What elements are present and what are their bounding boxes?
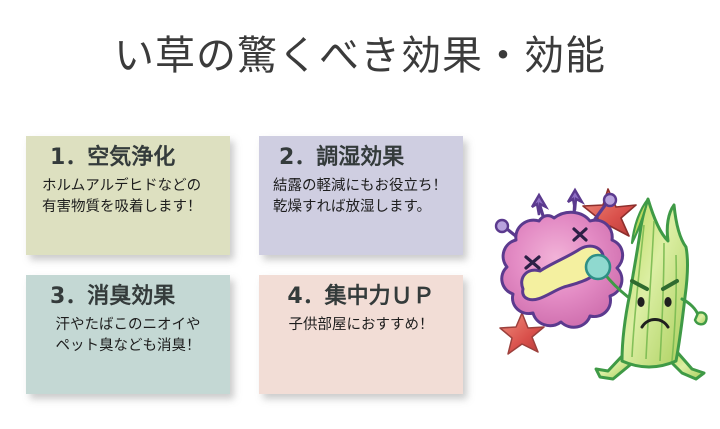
benefit-card-body: 汗やたばこのニオイや ペット臭なども消臭！ (36, 315, 220, 357)
benefit-card-body: 結露の軽減にもお役立ち！ 乾燥すれば放湿します。 (269, 176, 453, 218)
igusa-fist (586, 255, 610, 279)
benefit-card-heading: 1．空気浄化 (36, 145, 220, 171)
benefit-card-body: 子供部屋におすすめ！ (269, 315, 453, 336)
benefit-card-body: ホルムアルデヒドなどの 有害物質を吸着します！ (36, 176, 220, 218)
benefit-card-heading: 2．調湿効果 (269, 145, 453, 171)
benefit-cards-grid: 1．空気浄化 ホルムアルデヒドなどの 有害物質を吸着します！ 2．調湿効果 結露… (26, 136, 466, 381)
page-title: い草の驚くべき効果・効能 (0, 33, 720, 79)
benefit-card-air-purification: 1．空気浄化 ホルムアルデヒドなどの 有害物質を吸着します！ (26, 136, 230, 255)
infographic-page: い草の驚くべき効果・効能 1．空気浄化 ホルムアルデヒドなどの 有害物質を吸着し… (0, 0, 720, 429)
benefit-card-heading: 4．集中力ＵＰ (269, 284, 453, 310)
benefit-card-concentration-up: 4．集中力ＵＰ 子供部屋におすすめ！ (259, 275, 463, 394)
benefit-card-humidity-control: 2．調湿効果 結露の軽減にもお役立ち！ 乾燥すれば放湿します。 (259, 136, 463, 255)
benefit-card-heading: 3．消臭効果 (36, 284, 220, 310)
benefit-card-deodorizing: 3．消臭効果 汗やたばこのニオイや ペット臭なども消臭！ (26, 275, 230, 394)
illustration (482, 185, 714, 395)
